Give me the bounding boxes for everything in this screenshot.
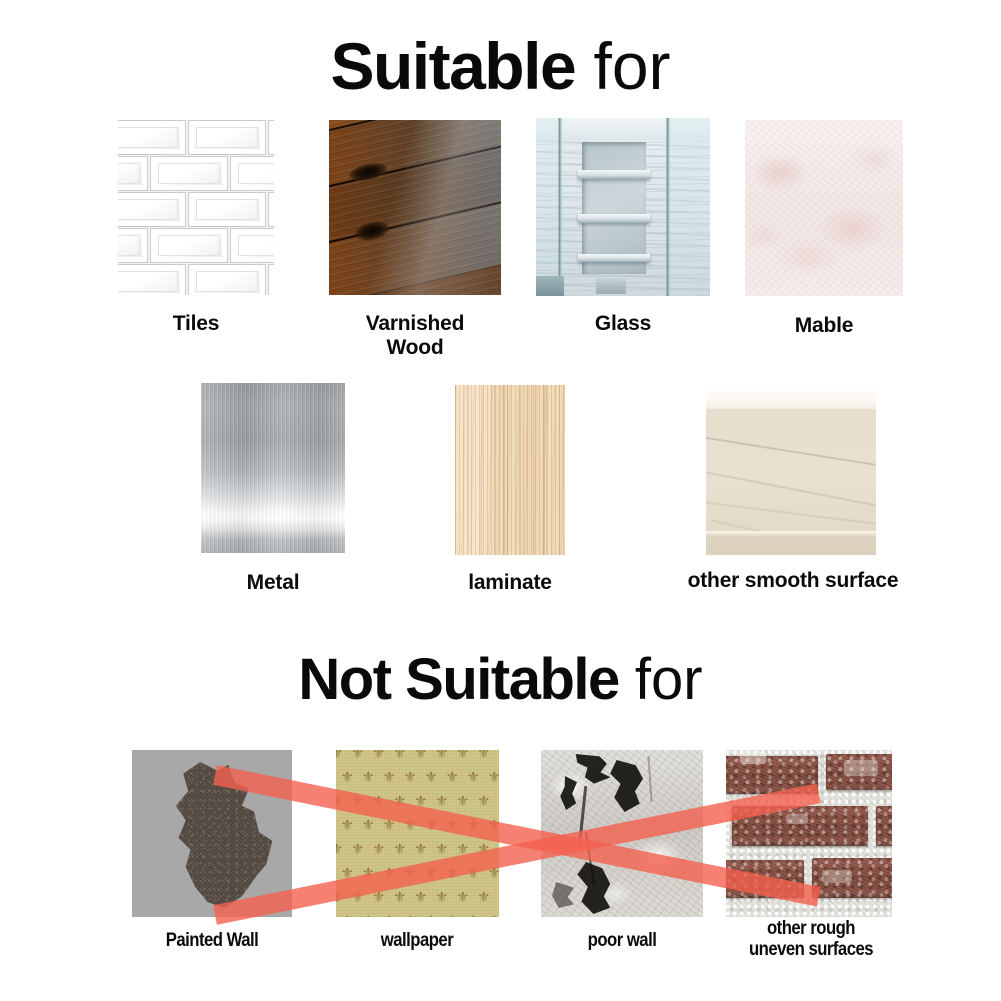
damask-motif-icon — [435, 794, 448, 809]
damask-motif-icon — [404, 914, 417, 917]
suitable-heading-light: for — [594, 29, 671, 103]
varnished-wood-image — [329, 120, 501, 295]
damask-motif-icon — [372, 750, 385, 761]
item-glass: Glass — [536, 118, 710, 296]
damask-motif-icon — [372, 842, 385, 857]
mable-image — [745, 120, 903, 296]
damask-motif-icon — [456, 842, 469, 857]
damask-motif-icon — [336, 890, 343, 905]
tiles-image — [118, 120, 274, 295]
rough-uneven-label: other rough uneven surfaces — [712, 918, 911, 961]
damask-motif-icon — [488, 770, 500, 785]
suitable-heading: Suitable for — [0, 33, 1001, 99]
item-metal: Metal — [201, 383, 345, 553]
damask-motif-icon — [383, 914, 396, 917]
damask-motif-icon — [435, 750, 448, 761]
damask-motif-icon — [393, 750, 406, 761]
damask-motif-icon — [498, 842, 499, 857]
damask-motif-icon — [425, 866, 438, 881]
item-painted-wall: Painted Wall — [132, 750, 292, 917]
item-wallpaper: wallpaper — [336, 750, 499, 917]
damask-motif-icon — [372, 890, 385, 905]
item-laminate: laminate — [455, 385, 565, 555]
suitable-heading-bold: Suitable — [330, 29, 575, 103]
damask-motif-icon — [425, 914, 438, 917]
not-suitable-heading-bold: Not Suitable — [298, 647, 618, 712]
damask-motif-icon — [425, 818, 438, 833]
not-suitable-heading-light: for — [635, 647, 703, 712]
damask-motif-icon — [446, 914, 459, 917]
damask-motif-icon — [383, 818, 396, 833]
wallpaper-image — [336, 750, 499, 917]
damask-motif-icon — [362, 914, 375, 917]
damask-motif-icon — [383, 866, 396, 881]
damask-motif-icon — [488, 818, 500, 833]
damask-motif-icon — [488, 914, 500, 917]
laminate-image — [455, 385, 565, 555]
damask-motif-icon — [446, 866, 459, 881]
damask-motif-icon — [477, 794, 490, 809]
wallpaper-label: wallpaper — [319, 930, 514, 951]
damask-motif-icon — [362, 866, 375, 881]
damask-motif-icon — [414, 890, 427, 905]
damask-motif-icon — [362, 770, 375, 785]
glass-label: Glass — [504, 312, 742, 336]
damask-motif-icon — [477, 842, 490, 857]
damask-motif-icon — [446, 818, 459, 833]
other-smooth-image — [706, 383, 876, 555]
poor-wall-image — [541, 750, 703, 917]
rough-uneven-image — [726, 750, 892, 917]
damask-motif-icon — [477, 750, 490, 761]
damask-motif-icon — [467, 770, 480, 785]
damask-motif-icon — [362, 818, 375, 833]
varnished-wood-label: Varnished Wood — [295, 312, 535, 359]
damask-motif-icon — [477, 890, 490, 905]
mable-label: Mable — [715, 314, 933, 338]
item-other-smooth: other smooth surface — [706, 383, 876, 555]
damask-motif-icon — [351, 794, 364, 809]
tiles-label: Tiles — [86, 312, 306, 336]
damask-motif-icon — [435, 842, 448, 857]
metal-image — [201, 383, 345, 553]
poor-wall-label: poor wall — [524, 930, 719, 951]
damask-motif-icon — [336, 750, 343, 761]
damask-motif-icon — [404, 770, 417, 785]
item-tiles: Tiles — [118, 120, 274, 295]
damask-motif-icon — [351, 890, 364, 905]
glass-image — [536, 118, 710, 296]
damask-motif-icon — [456, 750, 469, 761]
metal-label: Metal — [161, 571, 385, 595]
damask-motif-icon — [341, 818, 354, 833]
damask-motif-icon — [351, 750, 364, 761]
damask-motif-icon — [404, 866, 417, 881]
damask-motif-icon — [414, 794, 427, 809]
damask-motif-icon — [383, 770, 396, 785]
painted-wall-image — [132, 750, 292, 917]
item-mable: Mable — [745, 120, 903, 296]
painted-wall-label: Painted Wall — [115, 930, 309, 951]
damask-motif-icon — [393, 794, 406, 809]
damask-motif-icon — [488, 866, 500, 881]
damask-motif-icon — [435, 890, 448, 905]
damask-motif-icon — [414, 842, 427, 857]
damask-motif-icon — [351, 842, 364, 857]
laminate-label: laminate — [395, 571, 625, 595]
damask-motif-icon — [467, 866, 480, 881]
damask-motif-icon — [446, 770, 459, 785]
not-suitable-heading: Not Suitable for — [0, 651, 1001, 709]
damask-motif-icon — [341, 866, 354, 881]
other-smooth-label: other smooth surface — [664, 569, 922, 593]
damask-motif-icon — [372, 794, 385, 809]
damask-motif-icon — [393, 890, 406, 905]
damask-motif-icon — [498, 890, 499, 905]
damask-motif-icon — [341, 914, 354, 917]
damask-motif-icon — [467, 914, 480, 917]
damask-motif-icon — [404, 818, 417, 833]
damask-motif-icon — [456, 794, 469, 809]
damask-motif-icon — [498, 794, 499, 809]
damask-motif-icon — [336, 794, 343, 809]
damask-motif-icon — [341, 770, 354, 785]
infographic-page: Suitable for — [0, 0, 1001, 1001]
damask-motif-icon — [336, 842, 343, 857]
item-varnished-wood: Varnished Wood — [329, 120, 501, 295]
damask-motif-icon — [456, 890, 469, 905]
damask-motif-icon — [393, 842, 406, 857]
damask-motif-icon — [414, 750, 427, 761]
damask-motif-icon — [467, 818, 480, 833]
damask-motif-icon — [425, 770, 438, 785]
item-rough-uneven: other rough uneven surfaces — [726, 750, 892, 917]
damask-motif-icon — [498, 750, 499, 761]
item-poor-wall: poor wall — [541, 750, 703, 917]
